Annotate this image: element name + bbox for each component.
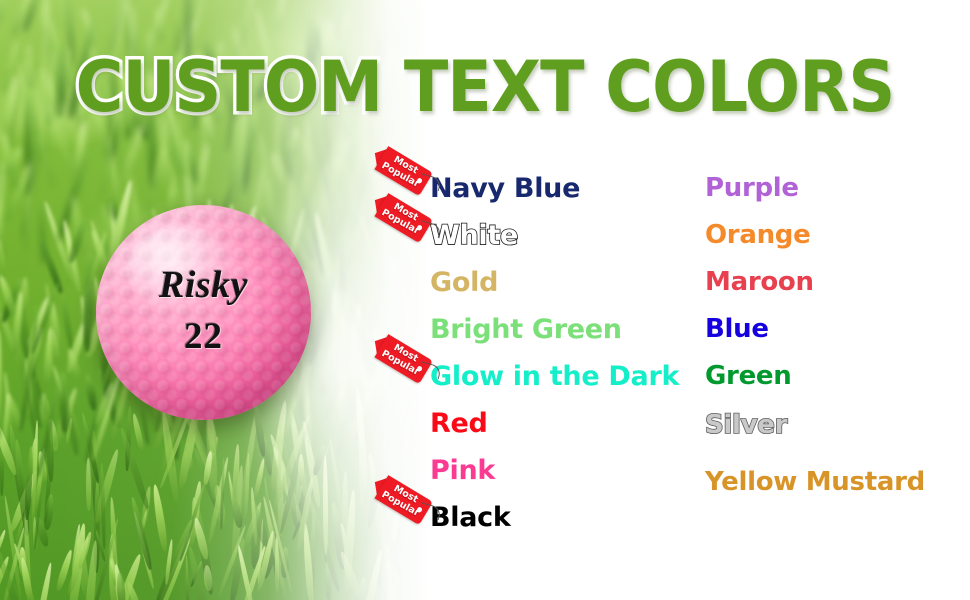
color-option-label-green: Green <box>705 363 791 390</box>
page-title: CUSTOM TEXT COLORS <box>34 52 936 122</box>
color-option-label-black: Black <box>430 504 511 531</box>
color-option-row[interactable]: MostPopularWhite <box>430 212 679 259</box>
color-option-row[interactable]: Yellow Mustard <box>705 459 925 506</box>
color-option-label-purple: Purple <box>705 175 799 202</box>
color-option-row[interactable]: Green <box>705 353 925 400</box>
color-option-label-orange: Orange <box>705 222 810 249</box>
color-option-label-navy-blue: Navy Blue <box>430 175 580 202</box>
color-option-label-silver: Silver <box>705 412 787 439</box>
color-option-label-maroon: Maroon <box>705 269 814 296</box>
color-option-label-bright-green: Bright Green <box>430 316 622 343</box>
color-option-row[interactable]: MostPopularNavy Blue <box>430 165 679 212</box>
color-option-row[interactable]: Maroon <box>705 259 925 306</box>
color-option-row[interactable]: Silver <box>705 402 925 449</box>
color-option-row[interactable]: Gold <box>430 259 679 306</box>
custom-text-colors-banner: Risky 22 CUSTOM TEXT COLORS MostPopularN… <box>0 0 970 600</box>
color-option-row[interactable]: Pink <box>430 447 679 494</box>
golf-ball-product-image: Risky 22 <box>96 205 311 420</box>
golf-ball-personalization-line1: Risky <box>96 263 311 307</box>
color-option-label-yellow-mustard: Yellow Mustard <box>705 469 925 496</box>
color-option-label-pink: Pink <box>430 457 495 484</box>
color-option-label-red: Red <box>430 410 488 437</box>
color-list-right-column: PurpleOrangeMaroonBlueGreenSilverYellow … <box>705 165 925 506</box>
color-option-label-gold: Gold <box>430 269 498 296</box>
golf-ball-personalization-line2: 22 <box>96 315 311 358</box>
color-option-row[interactable]: Red <box>430 400 679 447</box>
color-option-row[interactable]: Bright Green <box>430 306 679 353</box>
color-option-row[interactable]: Purple <box>705 165 925 212</box>
color-option-label-white: White <box>430 222 518 249</box>
color-option-row[interactable]: Blue <box>705 306 925 353</box>
color-list-left-column: MostPopularNavy BlueMostPopularWhiteGold… <box>430 165 679 541</box>
color-option-row[interactable]: Orange <box>705 212 925 259</box>
color-option-label-blue: Blue <box>705 316 769 343</box>
page-title-text: CUSTOM TEXT COLORS <box>76 46 895 128</box>
color-option-row[interactable]: MostPopularGlow in the Dark <box>430 353 679 400</box>
color-option-label-glow-in-the-dark: Glow in the Dark <box>430 363 679 390</box>
color-option-row[interactable]: MostPopularBlack <box>430 494 679 541</box>
